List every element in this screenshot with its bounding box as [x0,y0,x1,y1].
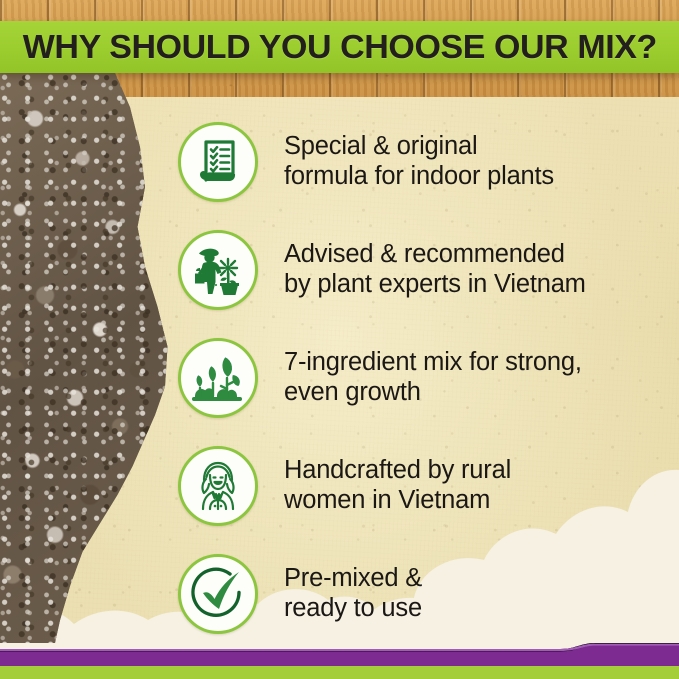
page-title: WHY SHOULD YOU CHOOSE OUR MIX? [22,28,656,66]
feature-text: Special & original formula for indoor pl… [284,132,554,191]
feature-text: Handcrafted by rural women in Vietnam [284,456,511,515]
green-bottom-band [0,666,679,679]
gardener-watering-plant-icon [178,230,258,310]
feature-row: Pre-mixed & ready to use [178,540,678,648]
rural-woman-portrait-glyph [190,458,246,514]
checkmark-circle-glyph [189,565,247,623]
feature-row: Special & original formula for indoor pl… [178,108,678,216]
purple-bottom-band [0,643,679,666]
gardener-watering-plant-glyph [190,242,246,298]
title-banner: WHY SHOULD YOU CHOOSE OUR MIX? [0,21,679,73]
checklist-document-icon [178,122,258,202]
sprouting-leaves-icon [178,338,258,418]
checklist-document-glyph [192,136,244,188]
rural-woman-portrait-icon [178,446,258,526]
feature-row: Advised & recommended by plant experts i… [178,216,678,324]
feature-text: Pre-mixed & ready to use [284,564,422,623]
feature-list: Special & original formula for indoor pl… [178,108,678,648]
feature-text: 7-ingredient mix for strong, even growth [284,348,582,407]
promo-infographic: WHY SHOULD YOU CHOOSE OUR MIX? [0,0,679,679]
feature-row: 7-ingredient mix for strong, even growth [178,324,678,432]
sprouting-leaves-glyph [190,352,246,404]
checkmark-circle-icon [178,554,258,634]
feature-text: Advised & recommended by plant experts i… [284,240,586,299]
feature-row: Handcrafted by rural women in Vietnam [178,432,678,540]
